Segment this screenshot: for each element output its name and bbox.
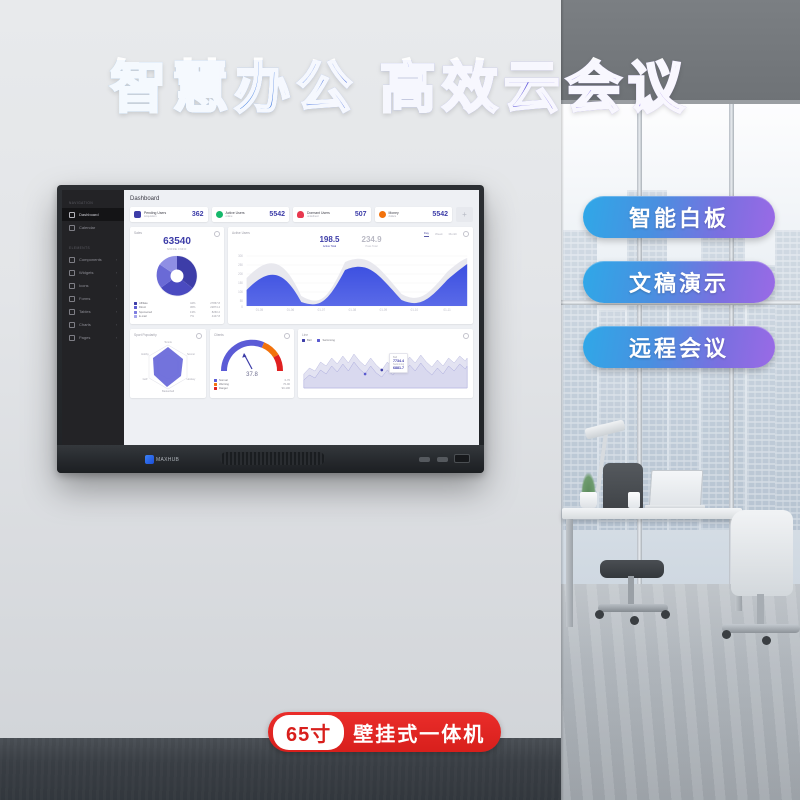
chevron-right-icon: ›	[116, 323, 117, 327]
sidebar-item-label: Dashboard	[79, 212, 99, 217]
usb-port[interactable]	[454, 454, 470, 463]
legend-row: Normal 0-70	[214, 379, 290, 382]
product-ribbon: 65寸 壁挂式一体机	[268, 712, 501, 752]
sidebar-section-main: NAVIGATION	[62, 196, 124, 208]
legend-percent: 7%	[190, 315, 202, 318]
sidebar-item-forms[interactable]: Forms ›	[62, 292, 124, 305]
legend-swatch	[134, 311, 137, 314]
gear-icon[interactable]	[214, 231, 220, 237]
metric-active-total: 198.5 Active Total	[319, 236, 339, 248]
white-chair-back	[731, 510, 793, 596]
legend-row: Sponsored 13% 8260.2	[134, 311, 220, 314]
svg-text:Golf: Golf	[143, 377, 148, 381]
range-tabs: Day Week Month	[424, 231, 469, 237]
sidebar-section-elements: ELEMENTS	[62, 241, 124, 253]
badge-smart-whiteboard[interactable]: 智能白板	[583, 196, 775, 238]
chair-caster	[661, 610, 670, 619]
legend-percent: 36%	[190, 306, 202, 309]
metric-value: 234.9	[362, 236, 382, 244]
wall-edge-shadow	[561, 0, 564, 800]
stat-value: 362	[192, 211, 204, 218]
metric-caption: Active Total	[319, 245, 339, 248]
active-users-area-chart: 300250 200150 10050 0 01-0501-0601-07 01…	[232, 250, 469, 312]
laptop-screen	[649, 470, 704, 509]
stat-card-pending-users[interactable]: Pending Users Acquisition 362	[130, 207, 208, 222]
star-icon	[69, 283, 75, 289]
legend-name: E-mail	[139, 315, 188, 318]
badge-label: 文稿演示	[629, 266, 729, 298]
badge-label: 远程会议	[629, 331, 729, 363]
sidebar-item-dashboard[interactable]: Dashboard	[62, 208, 124, 221]
stat-sublabel: dollars	[389, 215, 430, 218]
chevron-right-icon: ›	[116, 258, 117, 262]
chart-tooltip: Ball 7734.4 Swimming 6881.7	[389, 353, 408, 373]
badge-remote-meeting[interactable]: 远程会议	[583, 326, 775, 368]
stat-sublabel: Acquisition	[144, 215, 189, 218]
svg-text:01-11: 01-11	[443, 307, 450, 311]
plant-foliage	[581, 472, 596, 494]
money-icon	[379, 211, 386, 218]
tab-week[interactable]: Week	[435, 232, 443, 237]
legend-name: Affiliate	[139, 302, 188, 305]
active-users-icon	[216, 211, 223, 218]
legend-name: Danger	[219, 387, 272, 390]
tab-day[interactable]: Day	[424, 231, 429, 237]
chart-row-one: Sales 63540 MORE INFO	[130, 227, 473, 324]
ribbon-text: 壁挂式一体机	[353, 718, 485, 747]
svg-text:150: 150	[238, 280, 243, 284]
legend-range: 0-70	[274, 379, 290, 382]
stat-sublabel: online	[226, 215, 267, 218]
card-header: Clients	[214, 333, 290, 337]
stat-sublabel: undefined	[307, 215, 352, 218]
sidebar-item-pages[interactable]: Pages ›	[62, 331, 124, 344]
sidebar-item-label: Forms	[79, 296, 90, 301]
pen-cup	[628, 492, 640, 508]
legend-row: Direct 36% 22874.4	[134, 306, 220, 309]
white-chair-post	[757, 594, 764, 628]
legend-swatch	[317, 339, 320, 342]
display-bezel-bottom: MAXHUB	[57, 445, 484, 473]
card-header: Sales	[134, 231, 220, 235]
svg-text:Soccer: Soccer	[187, 352, 195, 356]
metric-value: 198.5	[319, 236, 339, 244]
svg-text:01-07: 01-07	[318, 307, 326, 311]
svg-text:01-06: 01-06	[287, 307, 295, 311]
stat-value: 5542	[432, 211, 448, 218]
office-chair-base	[598, 604, 668, 612]
sidebar-item-widgets[interactable]: Widgets ›	[62, 266, 124, 279]
line-area-chart	[302, 344, 469, 390]
stat-card-money[interactable]: Money dollars 5542	[375, 207, 453, 222]
gear-icon[interactable]	[463, 333, 469, 339]
brand-logo: MAXHUB	[145, 455, 179, 464]
svg-text:300: 300	[238, 253, 243, 257]
port-button[interactable]	[437, 457, 448, 462]
chevron-right-icon: ›	[116, 271, 117, 275]
display-screen[interactable]: NAVIGATION Dashboard Calendar ELEMENTS C…	[62, 190, 479, 445]
legend-name: Sponsored	[139, 311, 188, 314]
legend-swatch	[134, 302, 137, 305]
home-icon	[69, 212, 75, 218]
sidebar-item-label: Pages	[79, 335, 90, 340]
svg-text:Hobby: Hobby	[141, 352, 149, 356]
sidebar-item-label: Charts	[79, 322, 91, 327]
port-button[interactable]	[419, 457, 430, 462]
legend-value: 22874.4	[204, 306, 220, 309]
gauge-chart	[214, 339, 290, 375]
legend-row: Danger 90-100	[214, 387, 290, 390]
active-users-metrics: 198.5 Active Total 234.9 Pass Total	[232, 236, 469, 248]
interactive-display[interactable]: NAVIGATION Dashboard Calendar ELEMENTS C…	[57, 185, 484, 473]
sales-donut-chart	[134, 253, 220, 299]
tooltip-value: 6881.7	[393, 366, 404, 370]
brand-logo-mark	[145, 455, 154, 464]
sales-caption: MORE INFO	[134, 247, 220, 251]
page-icon	[69, 335, 75, 341]
svg-text:100: 100	[238, 289, 243, 293]
sidebar-item-components[interactable]: Components ›	[62, 253, 124, 266]
add-card-button[interactable]: +	[456, 207, 473, 222]
svg-text:01-10: 01-10	[411, 307, 419, 311]
sidebar-item-tables[interactable]: Tables ›	[62, 305, 124, 318]
dormant-users-icon	[297, 211, 304, 218]
page-headline: 智慧办公 高效云会议	[0, 60, 800, 116]
svg-text:Hockey: Hockey	[187, 377, 196, 381]
sales-value: 63540	[134, 237, 220, 247]
svg-text:0: 0	[241, 304, 243, 308]
white-chair-base	[722, 624, 800, 633]
pending-users-icon	[134, 211, 141, 218]
promo-poster: NAVIGATION Dashboard Calendar ELEMENTS C…	[0, 0, 800, 800]
form-icon	[69, 296, 75, 302]
legend-row[interactable]: Swimming	[317, 339, 334, 342]
legend-name: Warning	[219, 383, 272, 386]
dashboard-app: NAVIGATION Dashboard Calendar ELEMENTS C…	[62, 190, 479, 445]
chevron-right-icon: ›	[116, 336, 117, 340]
legend-swatch	[134, 315, 137, 318]
speaker-grille	[220, 452, 325, 465]
sidebar-item-icons[interactable]: Icons ›	[62, 279, 124, 292]
size-label: 65寸	[286, 724, 331, 746]
legend-row[interactable]: Ball	[302, 339, 311, 342]
grid-icon	[69, 257, 75, 263]
legend-swatch	[214, 379, 217, 382]
svg-text:250: 250	[238, 262, 243, 266]
chevron-right-icon: ›	[116, 310, 117, 314]
legend-row: Warning 70-90	[214, 383, 290, 386]
brand-logo-text: MAXHUB	[156, 457, 179, 463]
metric-caption: Pass Total	[362, 245, 382, 248]
calendar-icon	[69, 225, 75, 231]
stat-card-active-users[interactable]: Active Users online 5542	[212, 207, 290, 222]
sidebar-item-charts[interactable]: Charts ›	[62, 318, 124, 331]
chart-row-two: Sport Popularity TennisSoccerHockey Bask…	[130, 329, 473, 398]
clients-gauge-card: Clients 37.8	[210, 329, 294, 398]
sales-card: Sales 63540 MORE INFO	[130, 227, 224, 324]
gauge-value: 37.8	[210, 372, 294, 378]
svg-text:01-09: 01-09	[380, 307, 388, 311]
legend-swatch	[134, 306, 137, 309]
legend-swatch	[302, 339, 305, 342]
svg-text:Basketball: Basketball	[162, 389, 174, 393]
size-pill: 65寸	[273, 715, 344, 750]
table-icon	[69, 309, 75, 315]
sport-popularity-card: Sport Popularity TennisSoccerHockey Bask…	[130, 329, 206, 398]
sidebar-item-label: Tables	[79, 309, 91, 314]
legend-name: Direct	[139, 306, 188, 309]
legend-swatch	[214, 383, 217, 386]
tab-month[interactable]: Month	[449, 232, 457, 237]
stat-card-row: Pending Users Acquisition 362 Active Use…	[130, 207, 473, 222]
legend-range: 90-100	[274, 387, 290, 390]
legend-row: E-mail 7% 4447.8	[134, 315, 220, 318]
dashboard-main: Dashboard Pending Users Acquisition 362	[124, 190, 479, 445]
desk-leg	[566, 519, 573, 627]
sidebar: NAVIGATION Dashboard Calendar ELEMENTS C…	[62, 190, 124, 445]
badge-document-presentation[interactable]: 文稿演示	[583, 261, 775, 303]
svg-text:01-08: 01-08	[349, 307, 357, 311]
office-photo	[561, 0, 800, 800]
page-title: Dashboard	[130, 196, 473, 202]
chair-caster	[595, 610, 604, 619]
legend-name: Normal	[219, 379, 272, 382]
chair-caster	[630, 616, 639, 625]
plant-pot	[580, 492, 597, 508]
radar-chart: TennisSoccerHockey BasketballGolfHobby	[134, 339, 202, 393]
sidebar-item-label: Calendar	[79, 225, 95, 230]
svg-text:01-05: 01-05	[256, 307, 264, 311]
chevron-right-icon: ›	[116, 284, 117, 288]
legend-percent: 13%	[190, 311, 202, 314]
desk-top	[562, 508, 742, 519]
svg-text:200: 200	[238, 271, 243, 275]
legend-range: 70-90	[274, 383, 290, 386]
legend-swatch	[214, 387, 217, 390]
chart-icon	[69, 322, 75, 328]
chevron-right-icon: ›	[116, 297, 117, 301]
metric-pass-total: 234.9 Pass Total	[362, 236, 382, 248]
card-header: Active Users	[232, 231, 250, 235]
stat-value: 5542	[269, 211, 285, 218]
active-users-card: Active Users Day Week Month	[228, 227, 473, 324]
legend-row: Affiliate 44% 27867.8	[134, 302, 220, 305]
stat-card-dormant-users[interactable]: Dormant Users undefined 507	[293, 207, 371, 222]
line-chart-card: Line Ball Swimming	[298, 329, 473, 398]
chair-caster	[762, 636, 771, 645]
card-header: Line	[302, 333, 469, 337]
legend-name: Swimming	[322, 339, 334, 342]
card-header: Sport Popularity	[134, 333, 202, 337]
svg-text:Tennis: Tennis	[164, 340, 172, 344]
sidebar-item-label: Components	[79, 257, 102, 262]
gear-icon[interactable]	[196, 333, 202, 339]
badge-label: 智能白板	[629, 201, 729, 233]
sidebar-item-label: Widgets	[79, 270, 93, 275]
stat-value: 507	[355, 211, 367, 218]
legend-value: 27867.8	[204, 302, 220, 305]
sidebar-item-label: Icons	[79, 283, 89, 288]
gear-icon[interactable]	[284, 333, 290, 339]
legend-value: 8260.2	[204, 311, 220, 314]
svg-text:50: 50	[240, 298, 244, 302]
gear-icon[interactable]	[463, 231, 469, 237]
legend-value: 4447.8	[204, 315, 220, 318]
widget-icon	[69, 270, 75, 276]
sidebar-item-calendar[interactable]: Calendar	[62, 221, 124, 234]
chair-caster	[722, 630, 731, 639]
legend-name: Ball	[307, 339, 311, 342]
legend-percent: 44%	[190, 302, 202, 305]
